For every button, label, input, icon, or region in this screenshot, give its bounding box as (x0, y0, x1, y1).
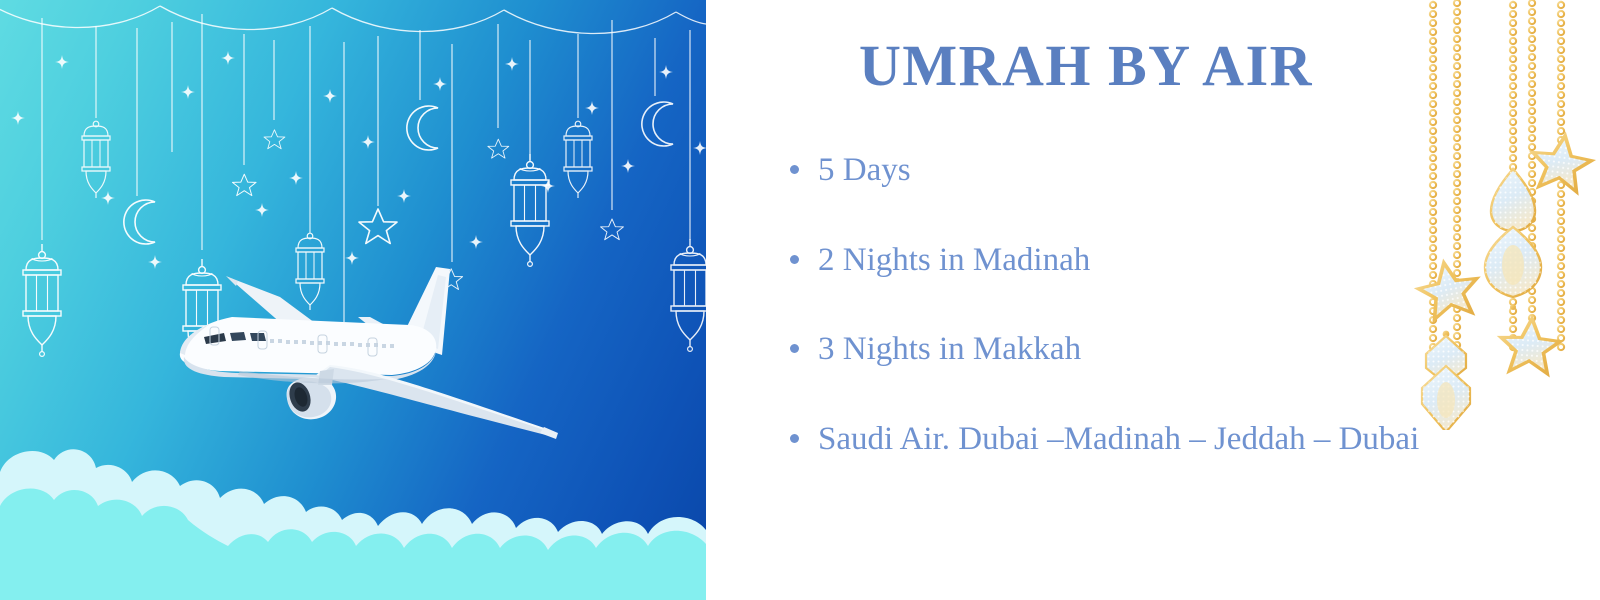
list-item: Saudi Air. Dubai –Madinah – Jeddah – Dub… (784, 415, 1424, 465)
package-details-list: 5 Days 2 Nights in Madinah 3 Nights in M… (784, 146, 1424, 464)
bullet-marker-icon (790, 165, 799, 174)
bullet-marker-icon (790, 255, 799, 264)
bullet-marker-icon (790, 344, 799, 353)
list-item: 5 Days (784, 146, 1424, 196)
cloud-band (0, 420, 706, 600)
list-item: 2 Nights in Madinah (784, 236, 1424, 286)
list-item: 3 Nights in Makkah (784, 325, 1424, 375)
bullet-marker-icon (790, 434, 799, 443)
list-item-label: 3 Nights in Makkah (818, 331, 1081, 367)
left-image-panel (0, 0, 706, 600)
hanging-ornaments-decoration (1400, 0, 1600, 430)
list-item-label: 5 Days (818, 152, 911, 188)
page-title: UMRAH BY AIR (706, 34, 1466, 98)
list-item-label: Saudi Air. Dubai –Madinah – Jeddah – Dub… (818, 421, 1419, 457)
content-panel: UMRAH BY AIR 5 Days 2 Nights in Madinah … (706, 0, 1600, 600)
umrah-by-air-slide: UMRAH BY AIR 5 Days 2 Nights in Madinah … (0, 0, 1600, 600)
list-item-label: 2 Nights in Madinah (818, 242, 1090, 278)
